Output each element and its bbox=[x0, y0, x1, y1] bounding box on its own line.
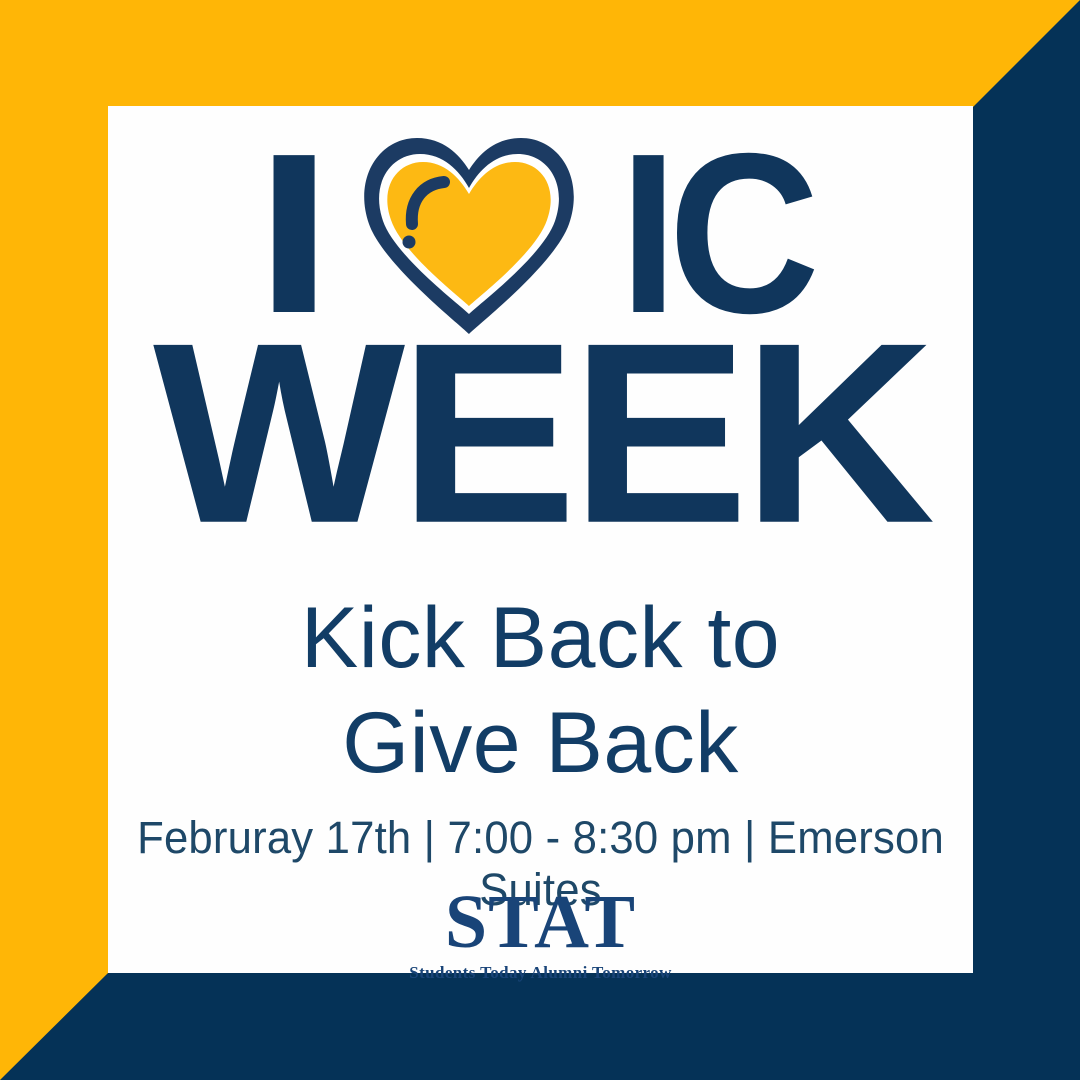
headline-line-2: Give Back bbox=[108, 691, 973, 796]
i-heart-ic-week-lockup: I IC WEEK bbox=[108, 124, 973, 533]
headline: Kick Back to Give Back bbox=[108, 586, 973, 796]
event-poster: I IC WEEK Kick Back to Give Bac bbox=[0, 0, 1080, 1080]
stat-logo: STAT Students Today Alumni Tomorrow bbox=[108, 884, 973, 981]
white-content-card: I IC WEEK Kick Back to Give Bac bbox=[108, 106, 973, 973]
week-wordmark: WEEK bbox=[153, 334, 929, 534]
headline-line-1: Kick Back to bbox=[108, 586, 973, 691]
stat-tagline: Students Today Alumni Tomorrow bbox=[108, 964, 973, 981]
stat-wordmark: STAT bbox=[108, 884, 973, 960]
